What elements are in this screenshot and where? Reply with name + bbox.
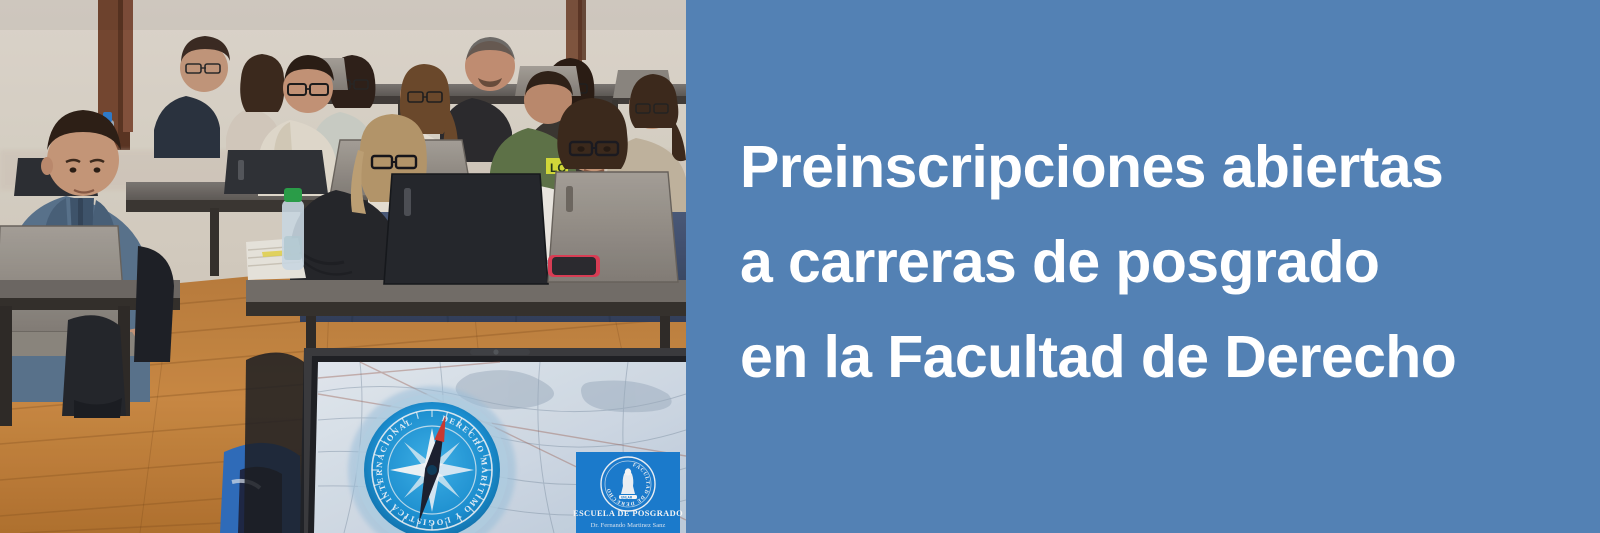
headline-panel: Preinscripciones abiertas a carreras de …	[686, 0, 1600, 533]
classroom-photo-illustration: LC	[0, 0, 686, 533]
headline-block: Preinscripciones abiertas a carreras de …	[740, 120, 1540, 405]
headline-line-2: a carreras de posgrado	[740, 215, 1540, 310]
headline-line-3: en la Facultad de Derecho	[740, 310, 1540, 405]
classroom-photo: LC	[0, 0, 686, 533]
headline-line-1: Preinscripciones abiertas	[740, 120, 1540, 215]
promo-banner: LC	[0, 0, 1600, 533]
